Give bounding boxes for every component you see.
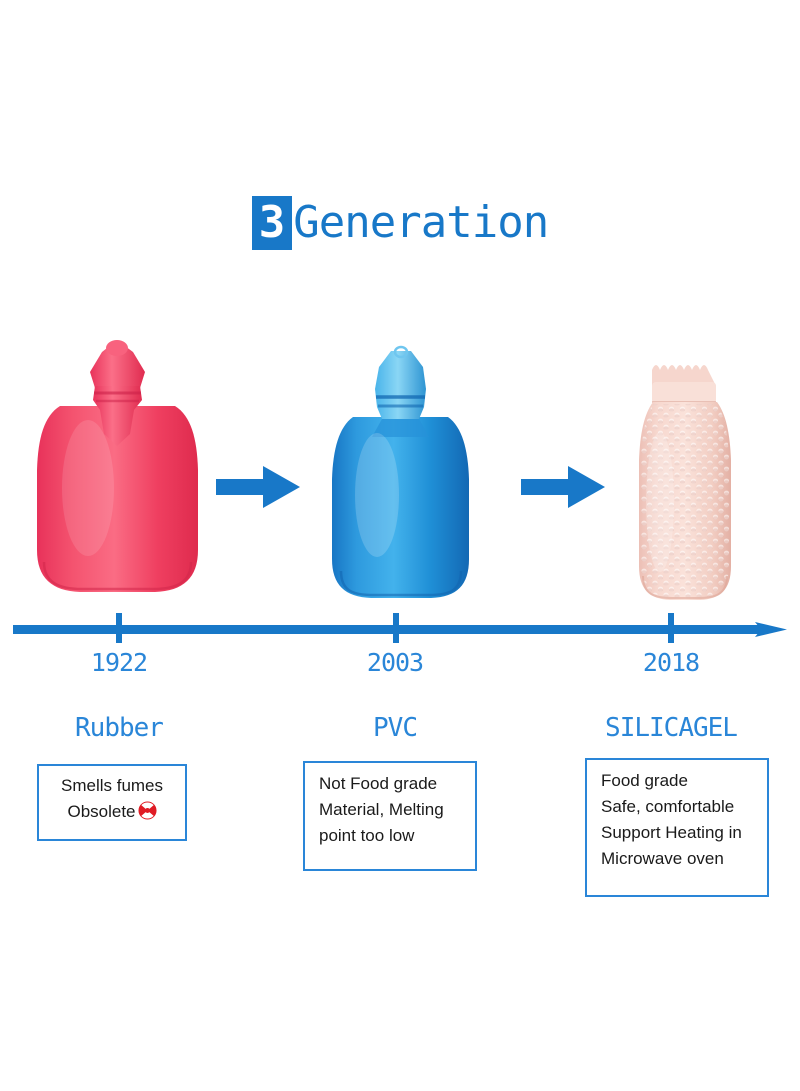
info-box-pvc: Not Food grade Material, Melting point t…: [303, 761, 477, 871]
info-line: Smells fumes: [45, 773, 179, 799]
title-word: Generation: [293, 196, 548, 250]
timeline-tick-2003: [393, 613, 399, 643]
product-image-pvc-bottle: [325, 345, 475, 607]
right-arrow-icon: [216, 466, 300, 508]
infographic-page: 3Generation: [0, 0, 800, 1091]
year-label-3: 2018: [611, 648, 731, 678]
timeline-tick-1922: [116, 613, 122, 643]
info-line: Support Heating in: [601, 820, 767, 846]
info-box-rubber: Smells fumes Obsolete: [37, 764, 187, 841]
timeline-tick-2018: [668, 613, 674, 643]
info-box-silicagel: Food grade Safe, comfortable Support Hea…: [585, 758, 769, 897]
material-label-2: PVC: [325, 712, 465, 744]
material-label-1: Rubber: [49, 712, 189, 744]
info-line-with-status: Obsolete: [45, 799, 179, 825]
info-line: Material, Melting: [319, 797, 475, 823]
product-image-rubber-bottle: [30, 338, 205, 600]
info-line: Safe, comfortable: [601, 794, 767, 820]
info-line: point too low: [319, 823, 475, 849]
info-line: Microwave oven: [601, 846, 767, 872]
right-arrow-icon: [521, 466, 605, 508]
info-line: Food grade: [601, 768, 767, 794]
year-label-2: 2003: [335, 648, 455, 678]
no-entry-icon: [138, 801, 157, 820]
page-title: 3Generation: [0, 196, 800, 250]
info-line: Not Food grade: [319, 771, 475, 797]
year-label-1: 1922: [59, 648, 179, 678]
info-line-text: Obsolete: [67, 802, 135, 821]
material-label-3: SILICAGEL: [601, 712, 741, 744]
title-badge-number: 3: [252, 196, 293, 250]
product-image-silicone-bottle: [630, 352, 740, 604]
